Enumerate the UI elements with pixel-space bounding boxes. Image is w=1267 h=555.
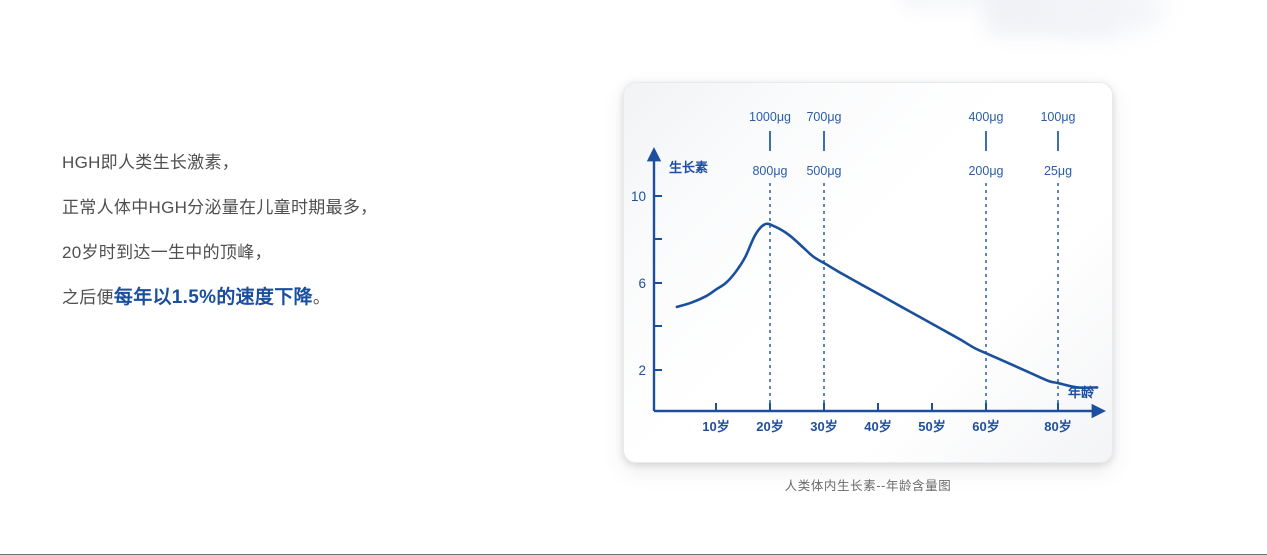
- growth-hormone-curve: [677, 224, 1097, 388]
- x-axis: 10岁 20岁 30岁 40岁 50岁 60岁 80岁 年龄: [654, 385, 1095, 434]
- copy-prefix: 之后便: [62, 288, 114, 307]
- x-tick-label: 20岁: [756, 419, 783, 434]
- decorative-blob-icon: [985, 0, 1115, 36]
- annotation-upper-label: 700μg: [806, 110, 841, 124]
- x-tick-label: 30岁: [810, 419, 837, 434]
- annotation-upper-label: 400μg: [968, 110, 1003, 124]
- decorative-blob-icon: [900, 0, 996, 10]
- chart-caption: 人类体内生长素--年龄含量图: [623, 475, 1113, 494]
- x-tick-label: 50岁: [918, 419, 945, 434]
- copy-line-highlighted: 之后便每年以1.5%的速度下降。: [62, 275, 532, 320]
- copy-line: 20岁时到达一生中的顶峰，: [62, 230, 532, 275]
- annotation-lower-label: 800μg: [752, 164, 787, 178]
- copy-line: HGH即人类生长激素，: [62, 140, 532, 185]
- x-tick-label: 80岁: [1044, 419, 1071, 434]
- copy-suffix: 。: [313, 288, 330, 307]
- copy-line: 正常人体中HGH分泌量在儿童时期最多，: [62, 185, 532, 230]
- x-tick-label: 40岁: [864, 419, 891, 434]
- y-tick-label: 2: [638, 363, 646, 378]
- chart-card: 10 6 2 生长素 10岁 20岁 30岁 40岁 50岁 60岁 80岁 年…: [623, 82, 1113, 463]
- y-tick-label: 10: [631, 189, 646, 204]
- x-tick-label: 10岁: [702, 419, 729, 434]
- annotation-group: 1000μg 800μg 700μg 500μg 400μg 200μg 100…: [749, 110, 1076, 405]
- y-tick-label: 6: [638, 276, 646, 291]
- x-tick-label: 60岁: [972, 419, 999, 434]
- y-axis: 10 6 2 生长素: [631, 159, 708, 411]
- annotation-upper-label: 100μg: [1040, 110, 1075, 124]
- description-copy-block: HGH即人类生长激素， 正常人体中HGH分泌量在儿童时期最多， 20岁时到达一生…: [62, 140, 532, 320]
- y-axis-title: 生长素: [669, 160, 708, 175]
- decorative-blob-icon: [1045, 0, 1165, 36]
- annotation-lower-label: 25μg: [1044, 164, 1072, 178]
- annotation-lower-label: 500μg: [806, 164, 841, 178]
- annotation-lower-label: 200μg: [968, 164, 1003, 178]
- copy-emphasis: 每年以1.5%的速度下降: [114, 287, 313, 308]
- annotation-upper-label: 1000μg: [749, 110, 791, 124]
- growth-hormone-chart: 10 6 2 生长素 10岁 20岁 30岁 40岁 50岁 60岁 80岁 年…: [624, 83, 1113, 463]
